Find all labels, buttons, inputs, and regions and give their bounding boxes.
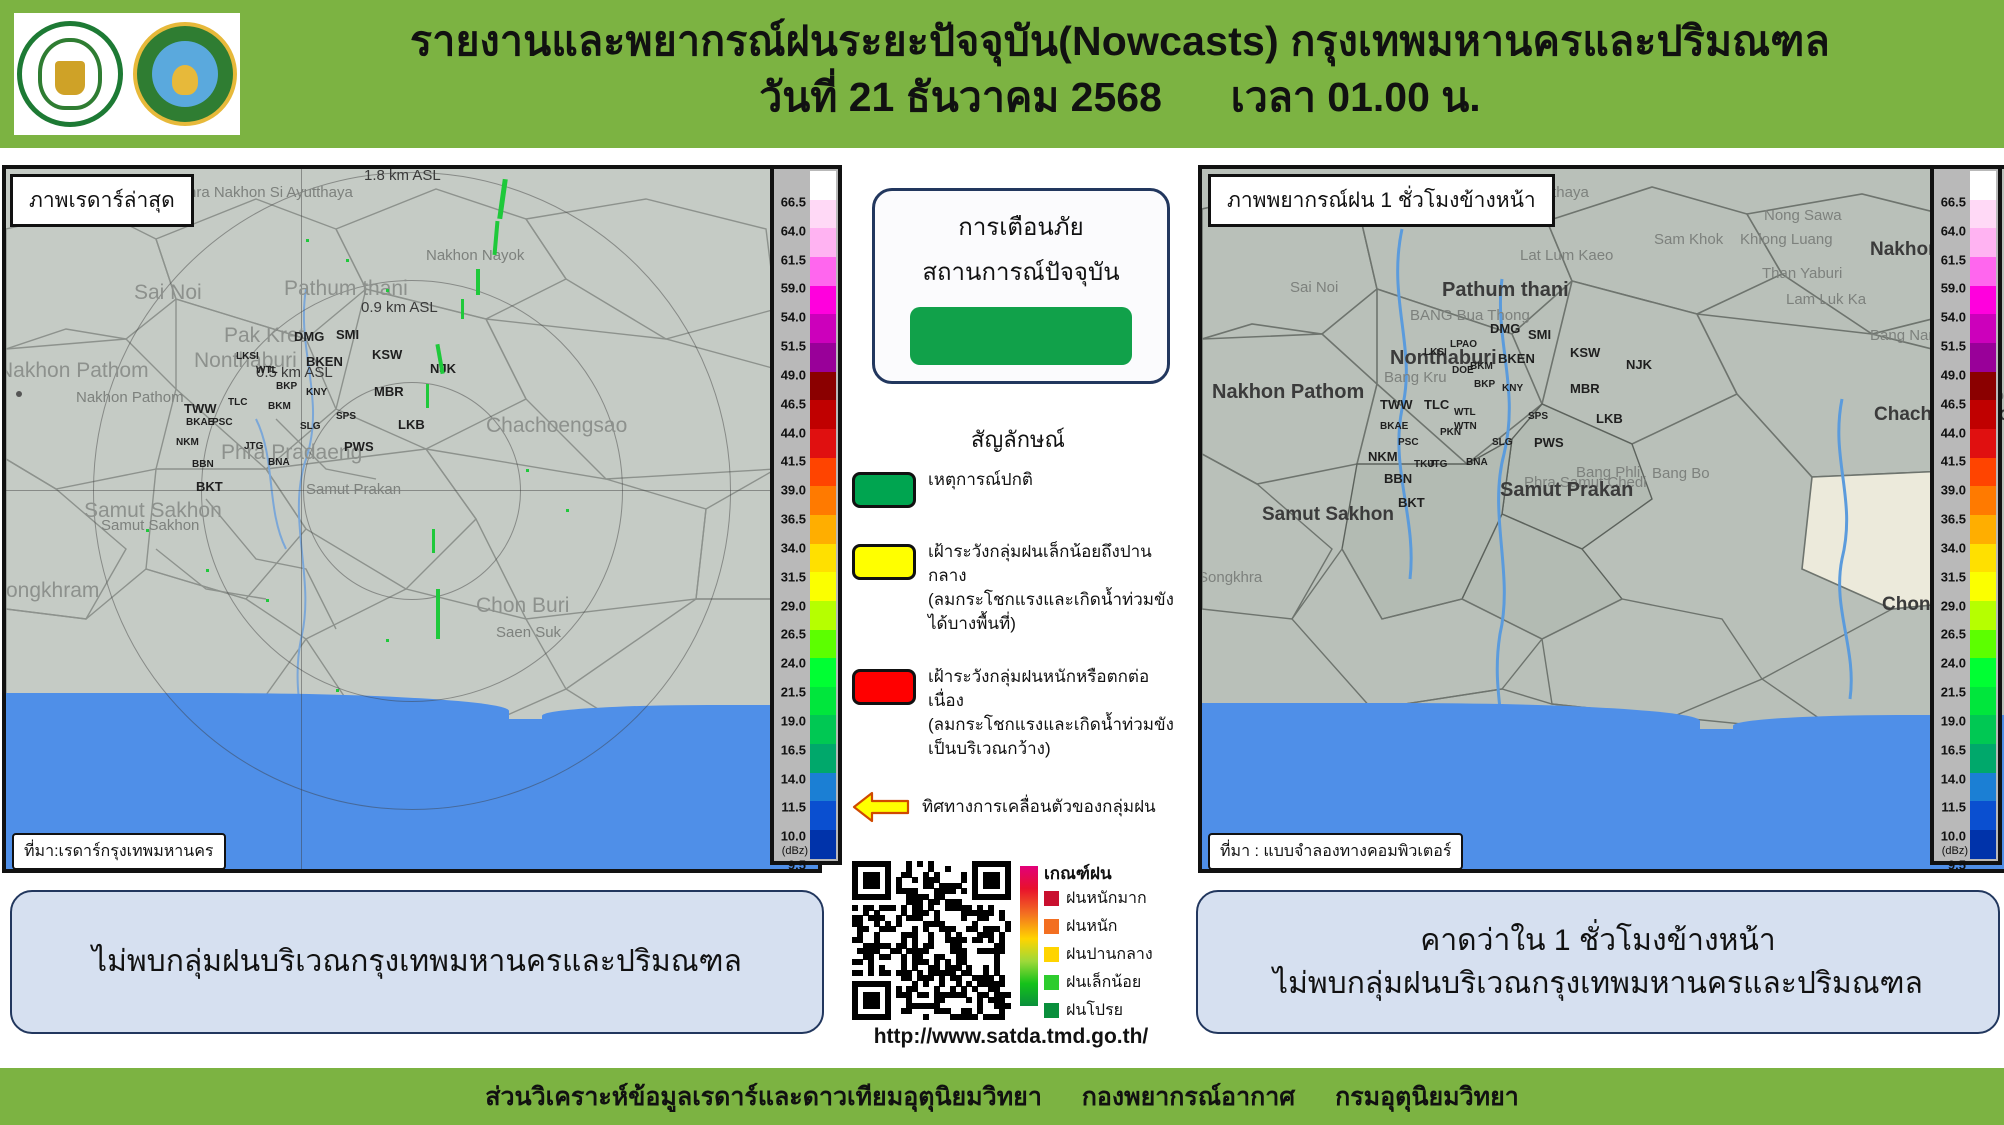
colorbar-tick: 44.0 [781,425,806,440]
colorbar-tick: 24.0 [781,656,806,671]
colorbar-tick: 29.0 [1941,598,1966,613]
radar-echo [336,689,339,692]
legend-line: เฝ้าระวังกลุ่มฝนหนักหรือตกต่อเนื่อง [928,665,1182,713]
agency-logos [14,13,240,135]
radar-echo [266,599,269,602]
colorbar-segment [810,630,836,659]
station-code: BKAE [186,417,214,428]
summary-line: คาดว่าใน 1 ชั่วโมงข้างหน้า [1420,919,1775,963]
colorbar-segment [1970,744,1996,773]
station-code: NJK [1626,357,1652,372]
station-code: WTN [1454,421,1477,432]
left-summary-callout: ไม่พบกลุ่มฝนบริเวณกรุงเทพมหานครและปริมณฑ… [10,890,824,1034]
legend-line: (ลมกระโชกแรงและเกิดน้ำท่วมขัง [928,713,1182,737]
colorbar-segment [1970,343,1996,372]
summary-line: ไม่พบกลุ่มฝนบริเวณกรุงเทพมหานครและปริมณฑ… [1273,962,1923,1006]
station-code: TLC [1424,397,1449,412]
rain-label: ฝนโปรย [1066,998,1123,1023]
place-label: Chachoengsao [486,414,627,438]
colorbar-segment [1970,314,1996,343]
radar-echo [306,239,309,242]
colorbar-segment [810,458,836,487]
station-code: SPS [1528,411,1548,422]
colorbar-tick: 21.5 [1941,685,1966,700]
colorbar-segment [810,286,836,315]
title-time: เวลา 01.00 น. [1231,74,1481,120]
colorbar-tick: 14.0 [781,771,806,786]
legend-line: ได้บางพื้นที่) [928,612,1182,636]
station-code: PWS [344,439,374,454]
colorbar-segment [810,801,836,830]
legend-swatch-yellow [852,544,916,580]
radar-echo [476,269,480,295]
colorbar-segment [1970,486,1996,515]
legend-swatch-green [852,472,916,508]
place-label: Bang Phli [1576,464,1640,481]
title-date: วันที่ 21 ธันวาคม 2568 [759,74,1162,120]
place-label: Nakhon Pathom [76,389,184,406]
colorbar-segment [1970,515,1996,544]
place-label: Khlong Luang [1740,231,1833,248]
colorbar-tick: 66.5 [781,194,806,209]
station-code: LKSI [1424,347,1447,358]
colorbar-tick: 54.0 [781,310,806,325]
colorbar-segment [810,228,836,257]
station-code: BKP [276,381,297,392]
colorbar-segment [1970,400,1996,429]
colorbar-segment [810,171,836,200]
station-code: SPS [336,411,356,422]
colorbar-segment [810,572,836,601]
colorbar-segment [1970,429,1996,458]
station-code: SMI [336,327,359,342]
colorbar-segment [810,314,836,343]
station-code: BKAE [1380,421,1408,432]
station-code: SLG [1492,437,1513,448]
colorbar-tick: 16.5 [1941,742,1966,757]
left-arrow-icon [852,790,910,824]
forecast-map-right[interactable]: Suphan Buri Phra Nakhon Si Ayutthaya Non… [1198,165,2004,873]
colorbar-tick: 34.0 [781,540,806,555]
reflectivity-colorbar-right: (dBz) 66.564.061.559.054.051.549.046.544… [1930,165,2002,865]
royal-seal-icon [17,21,123,127]
colorbar-segment [810,687,836,716]
station-code: LPAO [1450,339,1477,350]
legend-title: สัญลักษณ์ [872,422,1164,457]
left-panel-tag: ภาพเรดาร์ล่าสุด [10,174,194,227]
place-label: Sam Khok [1654,231,1723,248]
legend-line: เฝ้าระวังกลุ่มฝนเล็กน้อยถึงปานกลาง [928,540,1182,588]
rain-label: ฝนหนักมาก [1066,886,1147,911]
colorbar-tick: 66.5 [1941,194,1966,209]
legend-text: เฝ้าระวังกลุ่มฝนเล็กน้อยถึงปานกลาง (ลมกร… [928,540,1182,637]
colorbar-unit: (dBz) [782,845,808,857]
station-code: KSW [372,347,402,362]
station-code: LKSI [236,351,259,362]
title-line-2: วันที่ 21 ธันวาคม 2568 เวลา 01.00 น. [250,72,1990,122]
colorbar-segment [810,515,836,544]
colorbar-segment [1970,372,1996,401]
radar-echo [386,289,389,292]
colorbar-segment [1970,830,1996,859]
radar-axis-horizontal [6,490,818,491]
colorbar-tick: 14.0 [1941,771,1966,786]
colorbar-tick: 34.0 [1941,540,1966,555]
colorbar-tick: 59.0 [781,281,806,296]
colorbar-tick: 49.0 [1941,367,1966,382]
asl-label-2: 0.9 km ASL [361,299,438,316]
colorbar-strip [810,171,836,859]
city-dot [16,391,22,397]
colorbar-segment [810,343,836,372]
station-code: BBN [192,459,214,470]
place-label: Phra Nakhon Si Ayutthaya [178,184,353,201]
place-label: Lam Luk Ka [1786,291,1866,308]
colorbar-segment [1970,458,1996,487]
colorbar-tick: 24.0 [1941,656,1966,671]
title-line-1: รายงานและพยากรณ์ฝนระยะปัจจุบัน(Nowcasts)… [250,16,1990,66]
colorbar-tick: 19.0 [1941,713,1966,728]
rain-criteria-title: เกณฑ์ฝน [1044,860,1112,887]
station-code: TLC [228,397,247,408]
station-code: TWW [184,401,216,416]
colorbar-tick: 46.5 [781,396,806,411]
colorbar-tick: 36.5 [1941,512,1966,527]
colorbar-segment [1970,687,1996,716]
colorbar-tick: 10.0 [781,829,806,844]
station-code: BNA [1466,457,1488,468]
rain-criteria-item: ฝนโปรย [1044,998,1123,1023]
station-code: NKM [176,437,199,448]
place-label: Nakhon Pathom [2,359,149,383]
legend-line: เหตุการณ์ปกติ [928,468,1033,492]
station-code: PSC [212,417,233,428]
station-code: LKB [398,417,425,432]
station-code: BKP [1474,379,1495,390]
place-label: Bang Bo [1652,465,1710,482]
colorbar-tick: 51.5 [781,339,806,354]
legend-swatch-red [852,669,916,705]
radar-axis-vertical [301,169,302,869]
page-footer: ส่วนวิเคราะห์ข้อมูลเรดาร์และดาวเทียมอุตุ… [0,1068,2004,1125]
reflectivity-colorbar-left: (dBz) 66.564.061.559.054.051.549.046.544… [770,165,842,865]
footer-text: ส่วนวิเคราะห์ข้อมูลเรดาร์และดาวเทียมอุตุ… [485,1077,1519,1117]
rain-chip [1044,975,1059,990]
legend-line: เป็นบริเวณกว้าง) [928,737,1182,761]
colorbar-segment [1970,200,1996,229]
colorbar-segment [810,400,836,429]
rain-label: ฝนเล็กน้อย [1066,970,1141,995]
colorbar-segment [1970,257,1996,286]
radar-echo [386,639,389,642]
colorbar-tick: 61.5 [1941,252,1966,267]
place-label: Nakhon Pathom [1212,381,1364,404]
colorbar-segment [810,830,836,859]
colorbar-segment [810,658,836,687]
station-code: SLG [300,421,321,432]
radar-map-left[interactable]: 1.8 km ASL 0.9 km ASL 0.5 km ASL Suphan … [2,165,822,873]
colorbar-segment [1970,228,1996,257]
station-code: DMG [294,329,324,344]
summary-line: ไม่พบกลุ่มฝนบริเวณกรุงเทพมหานครและปริมณฑ… [92,940,742,984]
station-code: DOE [1452,365,1474,376]
place-label: Pak Kret [224,324,305,348]
legend-text: ทิศทางการเคลื่อนตัวของกลุ่มฝน [922,795,1156,819]
left-panel-source: ที่มา:เรดาร์กรุงเทพมหานคร [12,833,226,870]
colorbar-segment [810,773,836,802]
rain-label: ฝนปานกลาง [1066,942,1153,967]
legend-line: ทิศทางการเคลื่อนตัวของกลุ่มฝน [922,795,1156,819]
colorbar-segment [1970,286,1996,315]
rain-criteria-item: ฝนปานกลาง [1044,942,1153,967]
colorbar-tick: 11.5 [781,800,806,815]
station-code: KNY [1502,383,1523,394]
station-code: BKT [1398,495,1425,510]
colorbar-segment [810,544,836,573]
legend-item-watch-heavy: เฝ้าระวังกลุ่มฝนหนักหรือตกต่อเนื่อง (ลมก… [852,665,1182,762]
radar-echo [526,469,529,472]
station-code: NKM [1368,449,1398,464]
station-code: PSC [1398,437,1419,448]
rain-criteria-item: ฝนหนัก [1044,914,1117,939]
place-label: Songkhra [1198,569,1262,586]
footer-part-2: กองพยากรณ์อากาศ [1082,1083,1295,1111]
rain-intensity-gradient [1020,866,1038,1006]
rain-label: ฝนหนัก [1066,914,1117,939]
station-code: BKEN [1498,351,1535,366]
station-code: BKEN [306,354,343,369]
place-label: Nakhon Nayok [426,247,524,264]
colorbar-segment [1970,630,1996,659]
asl-label-1: 1.8 km ASL [364,167,441,184]
colorbar-segment [1970,601,1996,630]
place-label: Pathum thani [1442,279,1569,302]
right-summary-callout: คาดว่าใน 1 ชั่วโมงข้างหน้า ไม่พบกลุ่มฝนบ… [1196,890,2000,1034]
legend-item-movement: ทิศทางการเคลื่อนตัวของกลุ่มฝน [852,790,1182,824]
place-label: Samut Prakan [1500,479,1633,502]
rain-chip [1044,947,1059,962]
colorbar-tick: 21.5 [781,685,806,700]
colorbar-segment [810,715,836,744]
colorbar-tick: 54.0 [1941,310,1966,325]
place-label: Songkhram [2,579,99,603]
place-label: Saen Suk [496,624,561,641]
colorbar-tick: 41.5 [1941,454,1966,469]
place-label: Chon Buri [476,594,569,618]
place-label: Pathum thani [284,277,408,301]
colorbar-tick: 51.5 [1941,339,1966,354]
rain-criteria-item: ฝนหนักมาก [1044,886,1147,911]
place-label: Lat Lum Kaeo [1520,247,1613,264]
current-warning-box: การเตือนภัย สถานการณ์ปัจจุบัน [872,188,1170,384]
colorbar-tick: 11.5 [1941,800,1966,815]
radar-echo [432,529,435,553]
place-label: Samut Sakhon [1262,504,1394,526]
status-badge [910,307,1132,365]
colorbar-segment [810,200,836,229]
station-code: MBR [374,384,404,399]
colorbar-tick: 36.5 [781,512,806,527]
station-code: WTL [256,365,278,376]
colorbar-tick: 46.5 [1941,396,1966,411]
colorbar-tick: 19.0 [781,713,806,728]
qr-code[interactable] [852,861,1010,1019]
station-code: BBN [1384,471,1412,486]
station-code: JTG [244,441,263,452]
website-url[interactable]: http://www.satda.tmd.go.th/ [846,1025,1176,1049]
colorbar-segment [1970,801,1996,830]
colorbar-tick: 44.0 [1941,425,1966,440]
colorbar-segment [1970,715,1996,744]
place-label: Sai Noi [1290,279,1338,296]
station-code: PWS [1534,435,1564,450]
colorbar-segment [1970,544,1996,573]
radar-echo [426,384,429,408]
radar-echo [461,299,464,319]
radar-echo [206,569,209,572]
legend-text: เฝ้าระวังกลุ่มฝนหนักหรือตกต่อเนื่อง (ลมก… [928,665,1182,762]
radar-echo [346,259,349,262]
page-title: รายงานและพยากรณ์ฝนระยะปัจจุบัน(Nowcasts)… [250,16,1990,122]
colorbar-tick: 9.5 [788,858,806,873]
station-code: LKB [1596,411,1623,426]
colorbar-tick: 39.0 [1941,483,1966,498]
legend-item-watch-light: เฝ้าระวังกลุ่มฝนเล็กน้อยถึงปานกลาง (ลมกร… [852,540,1182,637]
station-code: WTL [1454,407,1476,418]
page-header: รายงานและพยากรณ์ฝนระยะปัจจุบัน(Nowcasts)… [0,0,2004,148]
colorbar-tick: 39.0 [781,483,806,498]
colorbar-tick: 26.5 [1941,627,1966,642]
colorbar-tick: 9.5 [1948,858,1966,873]
colorbar-unit: (dBz) [1942,845,1968,857]
station-code: BKM [268,401,291,412]
colorbar-segment [810,486,836,515]
colorbar-segment [810,372,836,401]
colorbar-tick: 59.0 [1941,281,1966,296]
place-label: Phra Pradaeng [221,441,362,465]
rain-criteria-item: ฝนเล็กน้อย [1044,970,1141,995]
place-label: Than Yaburi [1762,265,1842,282]
station-code: DMG [1490,321,1520,336]
rain-chip [1044,919,1059,934]
station-code: SMI [1528,327,1551,342]
right-panel-source: ที่มา : แบบจำลองทางคอมพิวเตอร์ [1208,833,1463,870]
place-label: Bang Kru [1384,369,1447,386]
station-code: TKU [1414,459,1435,470]
station-code: BKT [196,479,223,494]
radar-echo [436,589,440,639]
place-label: Nong Sawa [1764,207,1842,224]
station-code: TWW [1380,397,1412,412]
footer-part-1: ส่วนวิเคราะห์ข้อมูลเรดาร์และดาวเทียมอุตุ… [485,1083,1042,1111]
colorbar-tick: 10.0 [1941,829,1966,844]
legend-item-normal: เหตุการณ์ปกติ [852,468,1182,508]
colorbar-tick: 41.5 [781,454,806,469]
colorbar-tick: 16.5 [781,742,806,757]
station-code: MBR [1570,381,1600,396]
colorbar-tick: 26.5 [781,627,806,642]
radar-range-ring-3 [93,172,731,810]
colorbar-tick: 64.0 [781,223,806,238]
warning-title-1: การเตือนภัย [875,207,1167,246]
colorbar-tick: 31.5 [1941,569,1966,584]
colorbar-segment [1970,171,1996,200]
colorbar-tick: 31.5 [781,569,806,584]
place-label: Samut Sakhon [101,517,199,534]
station-code: BNA [268,457,290,468]
colorbar-tick: 64.0 [1941,223,1966,238]
place-label: Sai Noi [134,281,202,305]
colorbar-segment [810,744,836,773]
colorbar-segment [1970,658,1996,687]
rain-chip [1044,891,1059,906]
right-panel-tag: ภาพพยากรณ์ฝน 1 ชั่วโมงข้างหน้า [1208,174,1555,227]
station-code: KSW [1570,345,1600,360]
colorbar-strip [1970,171,1996,859]
colorbar-tick: 49.0 [781,367,806,382]
warning-title-2: สถานการณ์ปัจจุบัน [875,252,1167,291]
colorbar-segment [1970,572,1996,601]
radar-echo [146,529,149,532]
colorbar-segment [810,601,836,630]
radar-echo [566,509,569,512]
colorbar-segment [810,429,836,458]
colorbar-tick: 61.5 [781,252,806,267]
place-label: Samut Prakan [306,481,401,498]
colorbar-tick: 29.0 [781,598,806,613]
legend-text: เหตุการณ์ปกติ [928,468,1033,492]
colorbar-segment [1970,773,1996,802]
colorbar-segment [810,257,836,286]
legend-line: (ลมกระโชกแรงและเกิดน้ำท่วมขัง [928,588,1182,612]
rain-chip [1044,1003,1059,1018]
footer-part-3: กรมอุตุนิยมวิทยา [1335,1083,1519,1111]
tmd-seal-icon [133,22,237,126]
station-code: KNY [306,387,327,398]
